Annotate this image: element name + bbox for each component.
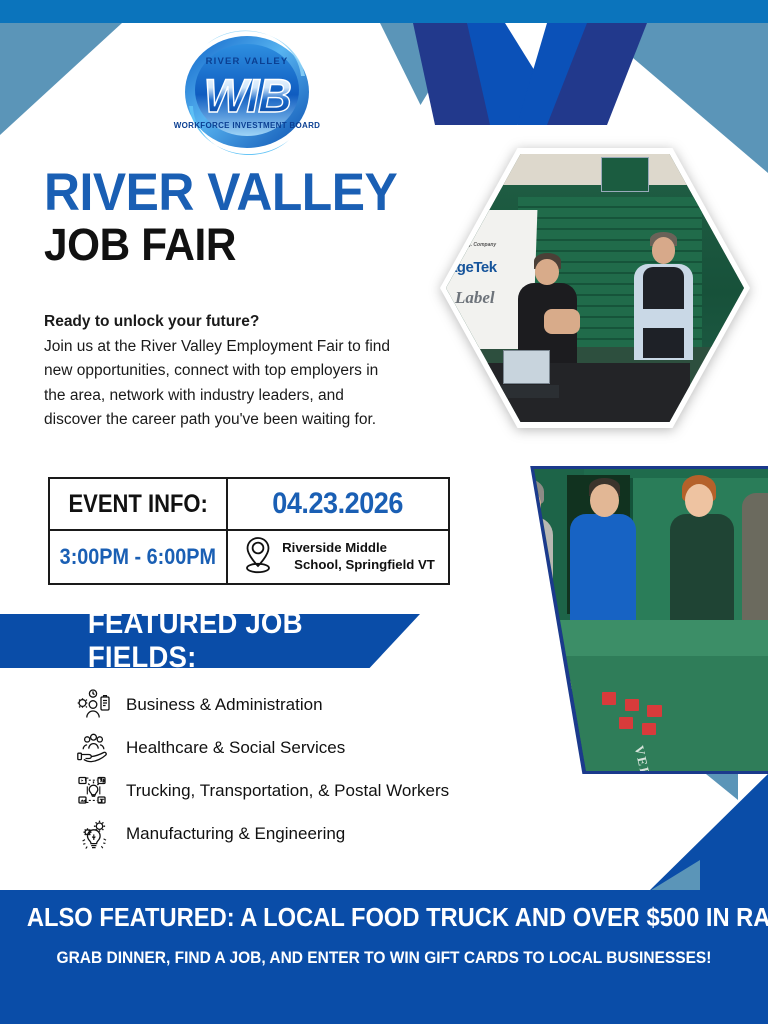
event-date-cell: 04.23.2026 [228, 479, 448, 531]
list-item: Trucking, Transportation, & Postal Worke… [72, 770, 632, 812]
photo-banner-text-2: Label [455, 288, 495, 308]
intro-paragraph: Join us at the River Valley Employment F… [44, 335, 404, 432]
flyer-canvas: RIVER VALLEY WIB WORKFORCE INVESTMENT BO… [0, 0, 768, 1024]
footer-line-1: ALSO FEATURED: A LOCAL FOOD TRUCK AND OV… [27, 904, 741, 933]
page-title: RIVER VALLEY JOB FAIR [44, 168, 444, 267]
intro-block: Ready to unlock your future? Join us at … [44, 310, 404, 432]
featured-fields-title: FEATURED JOB FIELDS: [88, 607, 406, 675]
top-header-bar [0, 0, 768, 23]
photo-scene-gym-booth: Tek Mfg. Company ageTek Label [446, 154, 744, 422]
event-info-table: EVENT INFO: 04.23.2026 3:00PM - 6:00PM R… [48, 477, 450, 585]
featured-fields-list: Business & Administration Healthcare & S… [72, 684, 632, 856]
event-location-line2: School, Springfield VT [282, 557, 435, 572]
decor-blue-triangle-bottom-right [648, 774, 768, 892]
logo-monogram: WIB [204, 69, 291, 122]
event-date: 04.23.2026 [273, 487, 404, 521]
event-info-label-cell: EVENT INFO: [50, 479, 228, 531]
headline-line-2: JOB FAIR [44, 222, 420, 267]
event-location-line1: Riverside Middle [282, 540, 387, 555]
footer-line-2: GRAB DINNER, FIND A JOB, AND ENTER TO WI… [23, 949, 745, 968]
decor-steel-triangle-top-left [0, 23, 122, 135]
decor-w-chevron-mark [395, 23, 685, 125]
business-admin-icon [72, 686, 116, 724]
footer-banner: ALSO FEATURED: A LOCAL FOOD TRUCK AND OV… [0, 890, 768, 1024]
photo-banner-text-1: ageTek [449, 259, 497, 276]
event-location-text: Riverside Middle School, Springfield VT [282, 540, 435, 574]
headline-line-1: RIVER VALLEY [44, 168, 420, 218]
intro-lead: Ready to unlock your future? [44, 310, 404, 333]
event-location-cell: Riverside Middle School, Springfield VT [228, 531, 448, 583]
field-label: Business & Administration [126, 695, 323, 715]
event-info-label: EVENT INFO: [68, 490, 207, 519]
transport-logistics-icon [72, 772, 116, 810]
photo-banner-small-text: Tek Mfg. Company [452, 242, 496, 248]
list-item: Healthcare & Social Services [72, 727, 632, 769]
field-label: Manufacturing & Engineering [126, 824, 345, 844]
decor-steel-triangle-bottom-top [706, 774, 738, 800]
featured-fields-banner: FEATURED JOB FIELDS: [0, 614, 420, 668]
list-item: Business & Administration [72, 684, 632, 726]
wib-logo: RIVER VALLEY WIB WORKFORCE INVESTMENT BO… [167, 28, 327, 162]
healthcare-hand-icon [72, 729, 116, 767]
gear-bulb-icon [72, 815, 116, 853]
logo-top-text: RIVER VALLEY [206, 56, 289, 67]
event-time-cell: 3:00PM - 6:00PM [50, 531, 228, 583]
logo-bottom-text: WORKFORCE INVESTMENT BOARD [174, 121, 320, 130]
field-label: Healthcare & Social Services [126, 738, 345, 758]
event-time: 3:00PM - 6:00PM [60, 544, 216, 570]
list-item: Manufacturing & Engineering [72, 813, 632, 855]
field-label: Trucking, Transportation, & Postal Worke… [126, 781, 449, 801]
hexagon-photo-imagetek-booth: Tek Mfg. Company ageTek Label [440, 148, 750, 428]
map-pin-icon [243, 535, 273, 580]
